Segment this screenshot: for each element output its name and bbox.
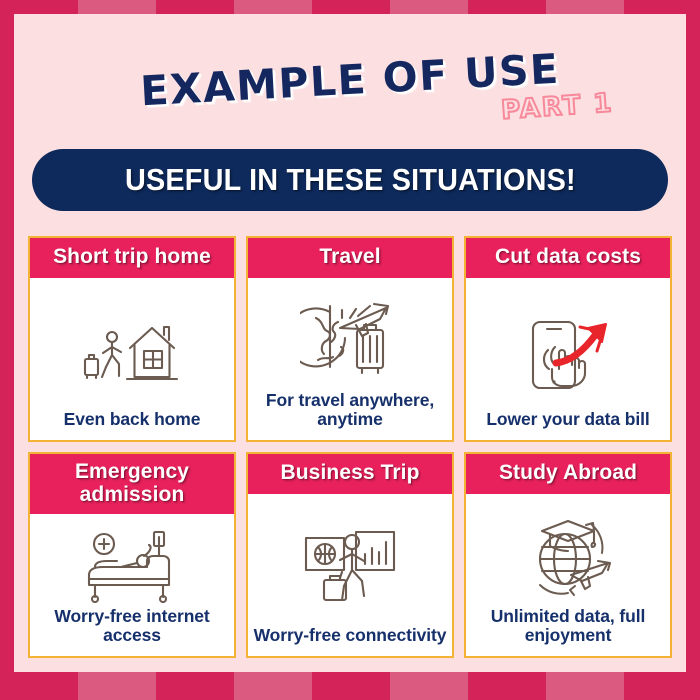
- poster-inner-panel: EXAMPLE OF USE PART 1 USEFUL IN THESE SI…: [14, 14, 686, 672]
- situation-card-study-abroad[interactable]: Study Abroad: [464, 452, 672, 658]
- situation-card-short-trip-home[interactable]: Short trip home: [28, 236, 236, 442]
- card-caption: Worry-free internet access: [35, 607, 229, 648]
- traveler-house-icon: [35, 288, 229, 410]
- card-title: Business Trip: [248, 454, 452, 494]
- card-body: Lower your data bill: [466, 278, 670, 440]
- subtitle-banner-text: USEFUL IN THESE SITUATIONS!: [125, 162, 576, 198]
- situation-card-travel[interactable]: Travel: [246, 236, 454, 442]
- card-title: Study Abroad: [466, 454, 670, 494]
- phone-hand-arrow-icon: [471, 288, 665, 410]
- card-caption: Even back home: [64, 410, 201, 431]
- card-caption: For travel anywhere, anytime: [253, 391, 447, 432]
- card-body: Even back home: [30, 278, 234, 440]
- card-title: Short trip home: [30, 238, 234, 278]
- subtitle-banner: USEFUL IN THESE SITUATIONS!: [32, 149, 668, 211]
- situation-card-grid: Short trip home: [28, 236, 672, 658]
- card-caption: Unlimited data, full enjoyment: [471, 607, 665, 648]
- card-title: Travel: [248, 238, 452, 278]
- card-body: For travel anywhere, anytime: [248, 278, 452, 440]
- card-body: Worry-free connectivity: [248, 494, 452, 656]
- situation-card-business-trip[interactable]: Business Trip: [246, 452, 454, 658]
- poster-root: EXAMPLE OF USE PART 1 USEFUL IN THESE SI…: [0, 0, 700, 700]
- situation-card-cut-data-costs[interactable]: Cut data costs: [464, 236, 672, 442]
- card-body: Worry-free internet access: [30, 514, 234, 656]
- card-title: Emergency admission: [30, 454, 234, 514]
- card-caption: Worry-free connectivity: [254, 626, 447, 647]
- card-title: Cut data costs: [466, 238, 670, 278]
- globe-graduation-plane-icon: [471, 504, 665, 607]
- globe-plane-suitcase-icon: [253, 288, 447, 391]
- businessman-chart-icon: [253, 504, 447, 626]
- hospital-bed-icon: [35, 524, 229, 606]
- card-body: Unlimited data, full enjoyment: [466, 494, 670, 656]
- card-caption: Lower your data bill: [486, 410, 649, 431]
- situation-card-emergency-admission[interactable]: Emergency admission: [28, 452, 236, 658]
